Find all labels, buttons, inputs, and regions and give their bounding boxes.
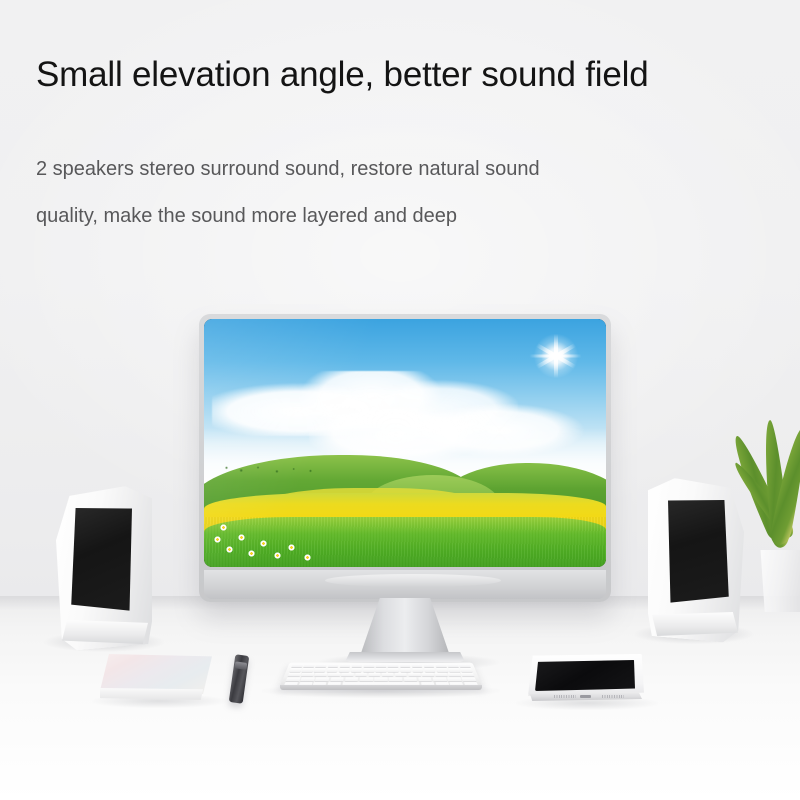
subline-text-1: 2 speakers stereo surround sound, restor… xyxy=(36,158,540,181)
keyboard-key xyxy=(315,677,329,681)
keyboard-key xyxy=(352,664,363,668)
keyboard-key xyxy=(363,668,374,672)
keyboard-key xyxy=(327,664,338,668)
tablet-speaker-grill xyxy=(602,695,624,698)
keyboard-key xyxy=(376,664,387,668)
keyboard-key xyxy=(447,677,461,681)
keyboard-key xyxy=(436,668,448,672)
keyboard-key xyxy=(374,677,387,681)
keyboard-key xyxy=(460,668,472,672)
headline-text: Small elevation angle, better sound fiel… xyxy=(36,55,648,95)
keyboard-key xyxy=(423,664,434,668)
subline-text-2: quality, make the sound more layered and… xyxy=(36,205,457,228)
monitor-chin-bezel xyxy=(204,570,606,599)
keyboard-key xyxy=(360,677,373,681)
keyboard-key xyxy=(388,664,399,668)
daisy-flower xyxy=(214,536,221,543)
keyboard-key xyxy=(404,677,418,681)
daisy-flower xyxy=(274,552,281,559)
keyboard-key xyxy=(364,664,375,668)
keyboard-key xyxy=(459,664,471,668)
keyboard-key xyxy=(462,677,477,681)
notebook-pages-edge xyxy=(100,688,212,700)
tablet-screen xyxy=(535,660,635,691)
daisy-flower xyxy=(304,554,311,561)
left-speaker-grille xyxy=(70,502,132,618)
notebook-cover xyxy=(100,654,212,694)
keyboard-key xyxy=(300,677,314,681)
keyboard-key xyxy=(376,668,387,672)
daisy-flower xyxy=(226,546,233,553)
keyboard-key xyxy=(314,673,327,677)
product-banner: Small elevation angle, better sound fiel… xyxy=(0,0,800,800)
keyboard-key xyxy=(289,668,301,672)
sun-ray xyxy=(529,354,581,357)
monitor-stand-neck xyxy=(360,598,450,656)
left-stereo-speaker xyxy=(56,488,152,648)
keyboard-key xyxy=(339,668,350,672)
tablet-charging-port xyxy=(580,695,591,698)
keyboard-row xyxy=(291,664,471,668)
keyboard xyxy=(279,650,483,694)
keyboard-key xyxy=(411,664,422,668)
keyboard-key xyxy=(368,673,380,677)
keyboard-key xyxy=(302,668,314,672)
keyboard-key xyxy=(435,664,447,668)
keyboard-key xyxy=(395,673,407,677)
daisy-flower xyxy=(238,534,245,541)
keyboard-row xyxy=(289,668,472,672)
keyboard-key xyxy=(286,677,301,681)
keyboard-key xyxy=(315,664,327,668)
keyboard-key xyxy=(339,664,350,668)
monitor-bezel xyxy=(204,319,606,567)
marble-notebook xyxy=(100,654,212,704)
sun-icon xyxy=(534,334,578,378)
keyboard-key xyxy=(424,668,436,672)
keyboard-row xyxy=(288,673,475,677)
plant-pot xyxy=(758,550,800,612)
white-tablet xyxy=(528,654,644,706)
right-stereo-speaker xyxy=(648,480,744,640)
keyboard-key xyxy=(448,673,461,677)
keyboard-key xyxy=(433,677,447,681)
keyboard-key xyxy=(382,673,394,677)
keyboard-key xyxy=(388,668,399,672)
daisy-flower xyxy=(220,524,227,531)
snake-plant xyxy=(742,420,800,620)
keyboard-key xyxy=(291,664,303,668)
right-speaker-base xyxy=(652,612,738,636)
distant-trees xyxy=(216,463,321,475)
keyboard-key xyxy=(412,668,423,672)
keyboard-key xyxy=(345,677,359,681)
keyboard-key xyxy=(400,668,411,672)
keyboard-key xyxy=(389,677,402,681)
keyboard-key xyxy=(328,673,341,677)
daisy-flower xyxy=(288,544,295,551)
keyboard-key xyxy=(341,673,353,677)
right-speaker-grille xyxy=(668,494,730,610)
keyboard-front-edge xyxy=(280,685,482,690)
keyboard-key xyxy=(326,668,338,672)
keyboard-key xyxy=(400,664,411,668)
keyboard-key xyxy=(461,673,474,677)
tablet-speaker-grill xyxy=(554,695,576,698)
keyboard-row xyxy=(286,677,477,681)
keyboard-key xyxy=(288,673,301,677)
wallpaper xyxy=(204,319,606,567)
keyboard-key xyxy=(421,673,434,677)
keyboard-key xyxy=(408,673,420,677)
monitor xyxy=(199,314,611,662)
daisy-flower xyxy=(260,540,267,547)
keyboard-key xyxy=(418,677,432,681)
keyboard-key xyxy=(303,664,315,668)
keyboard-key xyxy=(355,673,367,677)
keyboard-key xyxy=(448,668,460,672)
daisy-flower xyxy=(248,550,255,557)
keyboard-key xyxy=(351,668,362,672)
keyboard-key xyxy=(447,664,459,668)
left-speaker-base xyxy=(62,620,148,644)
keyboard-key xyxy=(330,677,344,681)
keyboard-key xyxy=(301,673,314,677)
keyboard-key xyxy=(314,668,326,672)
keyboard-key xyxy=(435,673,448,677)
